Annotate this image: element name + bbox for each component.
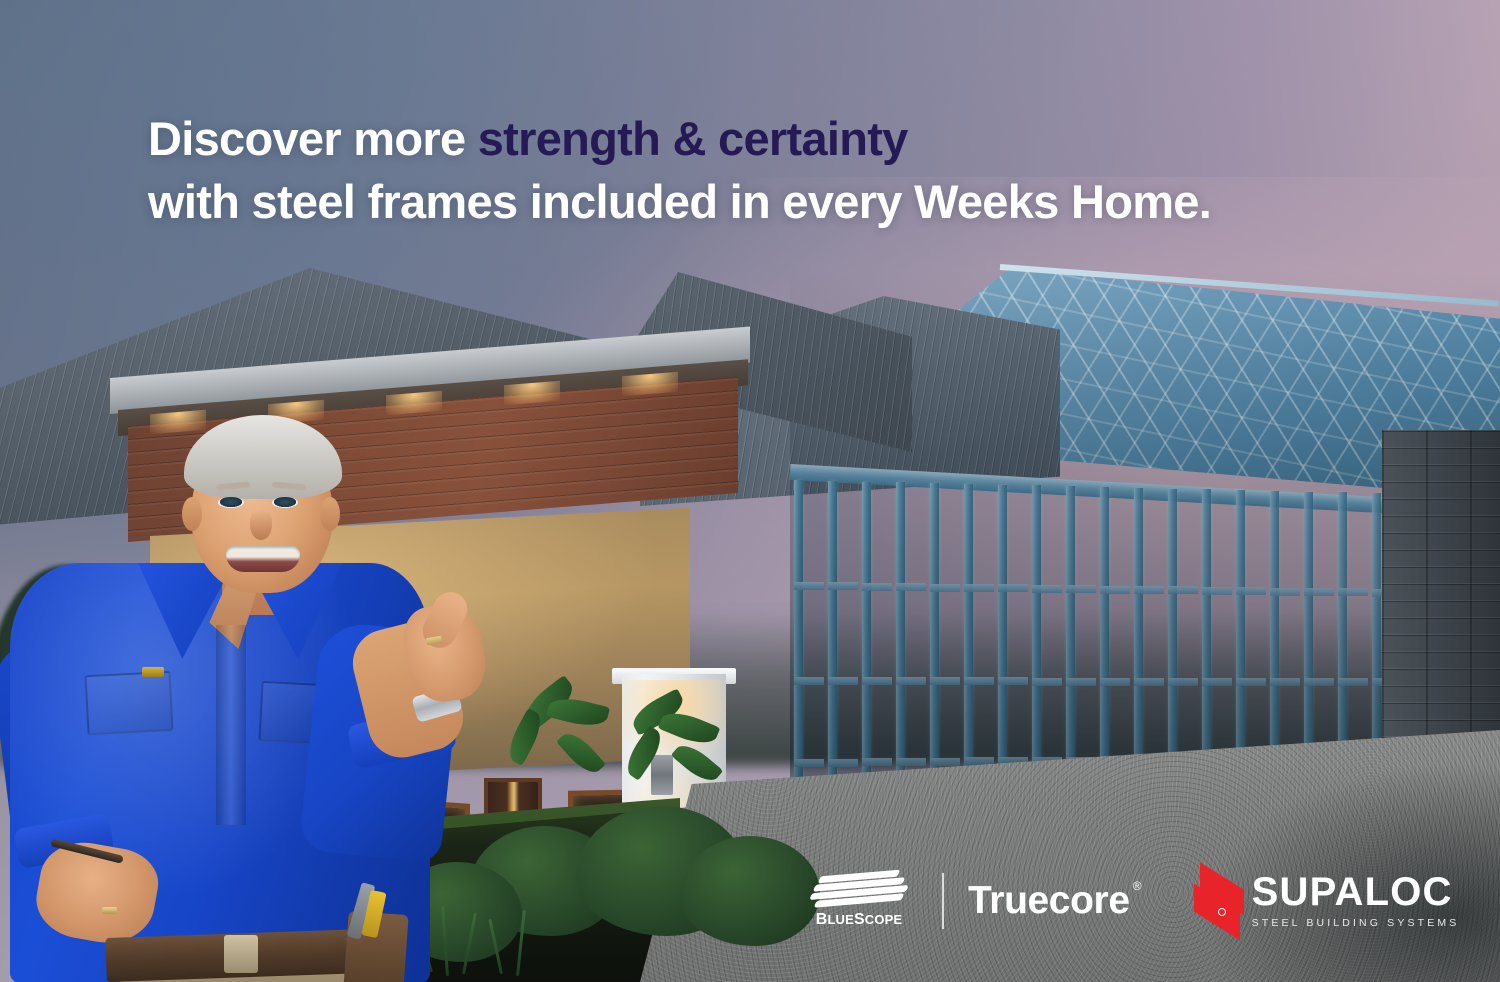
steel-noggin xyxy=(1338,588,1368,596)
headline-line1-plain: Discover more xyxy=(148,112,478,165)
headline: Discover more strength & certainty with … xyxy=(148,108,1368,234)
truecore-wordmark: Truecore xyxy=(968,881,1130,920)
ear-right xyxy=(320,497,340,531)
headline-line2: with steel frames included in every Week… xyxy=(148,171,1368,234)
steel-noggin xyxy=(964,757,994,765)
supaloc-logo[interactable]: SUPALOC STEEL BUILDING SYSTEMS xyxy=(1194,872,1460,929)
steel-noggin xyxy=(1236,587,1266,595)
steel-noggin xyxy=(1168,586,1198,594)
steel-noggin xyxy=(998,584,1028,592)
steel-noggin xyxy=(1304,588,1334,596)
headline-line1-accent: strength & certainty xyxy=(478,112,908,165)
steel-noggin xyxy=(1032,678,1062,686)
steel-noggin xyxy=(1100,678,1130,686)
partner-logo-bar: BLUESCOPE Truecore ® SUPALOC STEEL BUILD… xyxy=(800,872,1459,929)
steel-noggin xyxy=(1134,586,1164,594)
advertisement-banner: Discover more strength & certainty with … xyxy=(0,0,1500,982)
steel-noggin xyxy=(964,584,994,592)
steel-noggin xyxy=(1032,585,1062,593)
shirt-brand-badge xyxy=(142,667,164,677)
logo-divider xyxy=(942,873,944,929)
ear-left xyxy=(182,497,202,531)
bluescope-logo[interactable]: BLUESCOPE xyxy=(800,872,918,929)
nose xyxy=(250,510,272,540)
steel-noggin xyxy=(1202,587,1232,595)
steel-noggin xyxy=(1134,678,1164,686)
eye-right xyxy=(272,497,298,508)
bluescope-wordmark: BLUESCOPE xyxy=(816,911,903,929)
steel-noggin xyxy=(1066,585,1096,593)
belt-buckle xyxy=(224,935,258,973)
steel-noggin xyxy=(1066,678,1096,686)
steel-noggin xyxy=(1270,678,1300,686)
wall-sconce-icon xyxy=(651,755,673,795)
steel-noggin xyxy=(1100,586,1130,594)
steel-noggin xyxy=(930,677,960,685)
supaloc-diagonal-icon xyxy=(1194,874,1250,928)
truecore-registered-icon: ® xyxy=(1133,879,1142,893)
steel-noggin xyxy=(930,584,960,592)
steel-noggin xyxy=(896,583,926,591)
truecore-logo[interactable]: Truecore ® xyxy=(968,881,1142,920)
ring-left-hand xyxy=(102,907,117,914)
steel-noggin xyxy=(998,677,1028,685)
eye-left xyxy=(218,497,244,508)
steel-noggin xyxy=(1304,678,1334,686)
hair xyxy=(184,415,342,499)
supaloc-wordmark: SUPALOC xyxy=(1252,872,1460,912)
supaloc-tagline: STEEL BUILDING SYSTEMS xyxy=(1252,917,1460,929)
shirt-placket xyxy=(216,625,246,825)
steel-noggin xyxy=(964,677,994,685)
bluescope-waves-icon xyxy=(811,872,907,906)
steel-noggin xyxy=(1270,588,1300,596)
presenter-person xyxy=(10,415,480,982)
steel-noggin xyxy=(1236,678,1266,686)
steel-noggin xyxy=(930,758,960,766)
shirt-pocket-left xyxy=(84,671,173,735)
steel-noggin xyxy=(1202,678,1232,686)
steel-stud xyxy=(896,482,905,818)
soffit-downlight-icon xyxy=(622,372,678,397)
steel-noggin xyxy=(1338,678,1368,686)
steel-noggin xyxy=(896,758,926,766)
steel-noggin xyxy=(896,677,926,685)
steel-noggin xyxy=(1168,678,1198,686)
smiling-mouth xyxy=(226,546,300,572)
